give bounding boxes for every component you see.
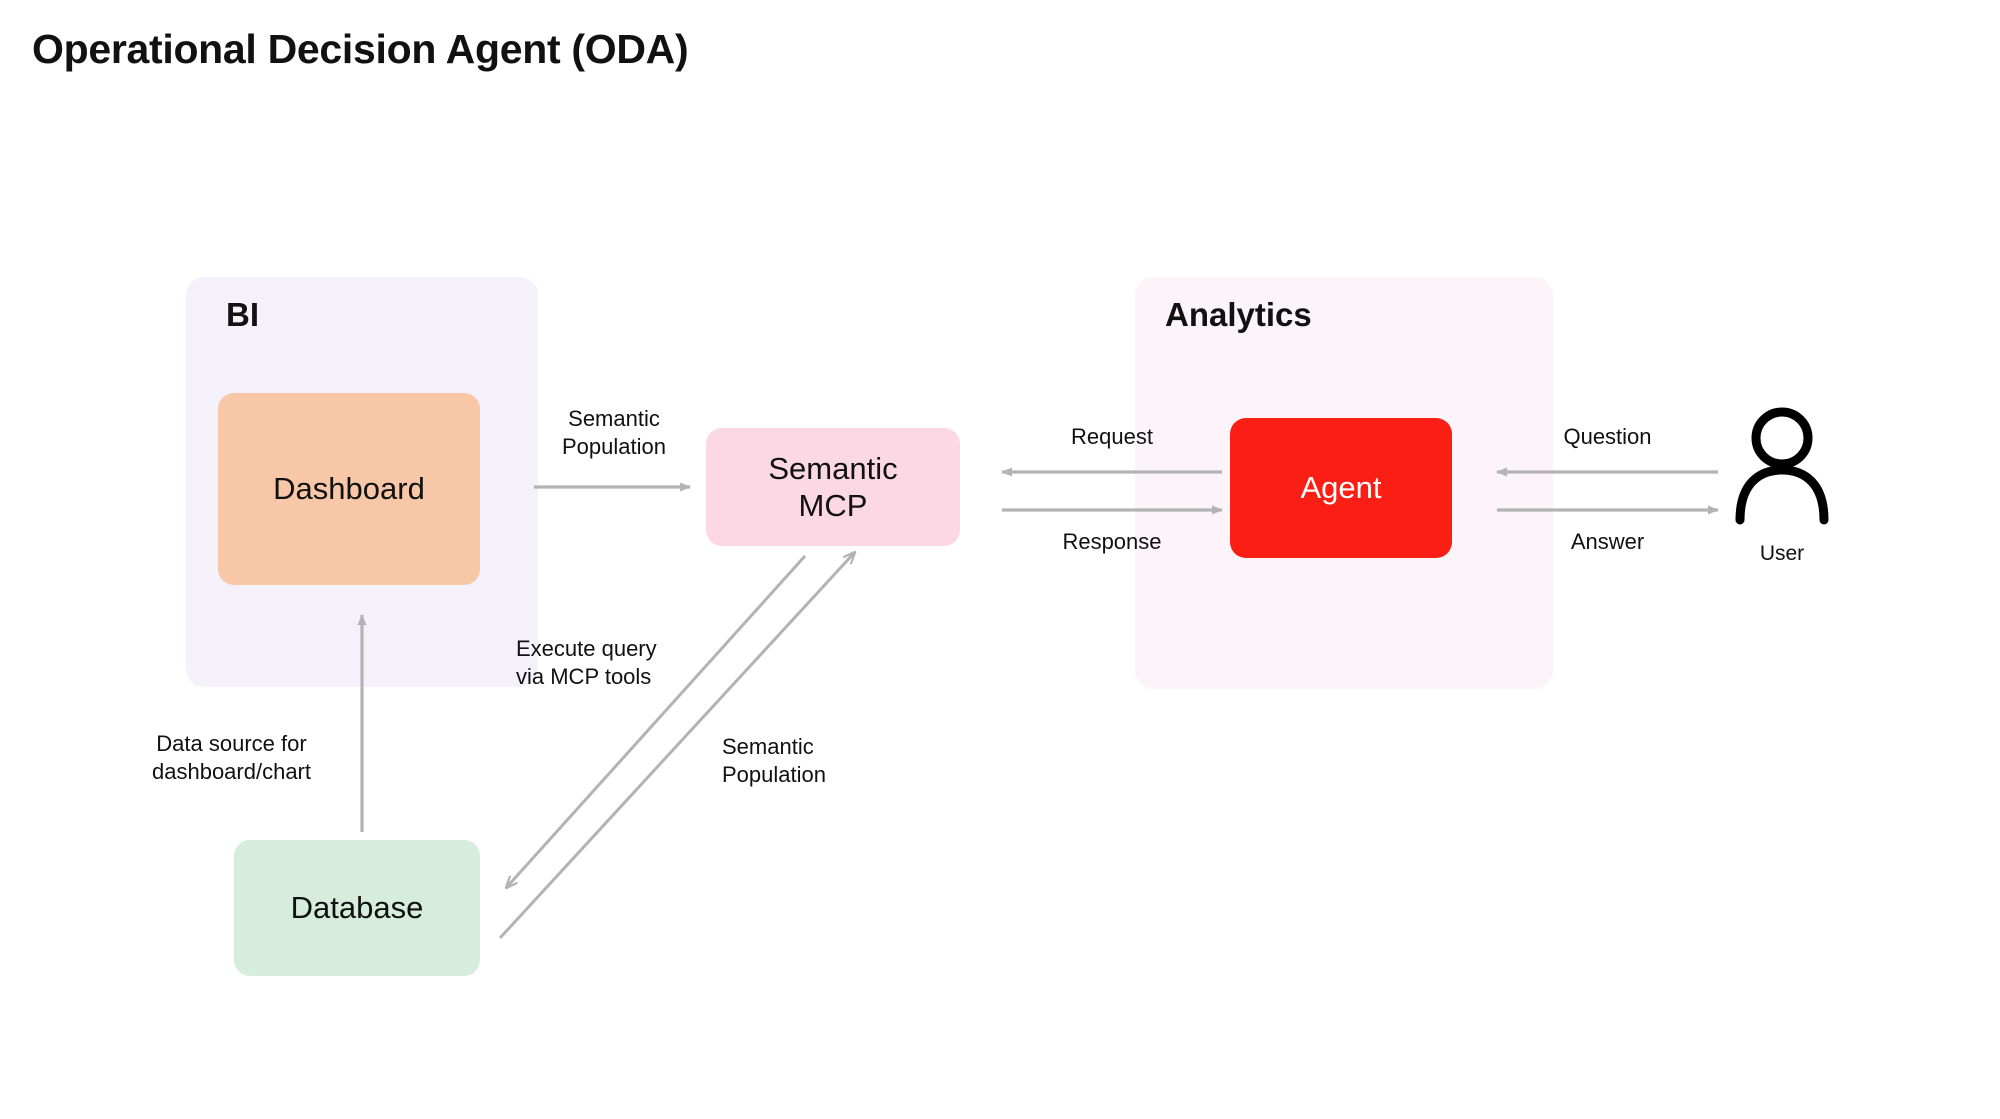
node-dashboard[interactable]: Dashboard (218, 393, 480, 585)
group-analytics-label: Analytics (1165, 296, 1312, 334)
user-person-icon (1728, 404, 1836, 528)
edge-label-semantic-population-diagonal: Semantic Population (722, 733, 912, 788)
node-agent-label: Agent (1300, 469, 1381, 506)
group-bi-label: BI (226, 296, 259, 334)
arrow-mcp-to-database (506, 556, 805, 888)
edge-label-execute-query: Execute query via MCP tools (516, 635, 706, 690)
diagram-canvas: Operational Decision Agent (ODA) BI Anal… (0, 0, 2000, 1119)
edge-label-response: Response (1002, 528, 1222, 556)
node-user[interactable] (1728, 404, 1836, 528)
edge-label-request: Request (1002, 423, 1222, 451)
edge-label-answer: Answer (1497, 528, 1718, 556)
node-semantic-mcp[interactable]: Semantic MCP (706, 428, 960, 546)
node-agent[interactable]: Agent (1230, 418, 1452, 558)
node-database-label: Database (291, 889, 424, 926)
edge-label-semantic-population-top: Semantic Population (535, 405, 693, 460)
edge-label-data-source: Data source for dashboard/chart (124, 730, 339, 785)
node-semantic-mcp-label: Semantic MCP (768, 450, 897, 524)
node-dashboard-label: Dashboard (273, 470, 425, 507)
page-title: Operational Decision Agent (ODA) (32, 26, 688, 73)
edge-label-question: Question (1497, 423, 1718, 451)
node-database[interactable]: Database (234, 840, 480, 976)
node-user-label: User (1728, 542, 1836, 566)
